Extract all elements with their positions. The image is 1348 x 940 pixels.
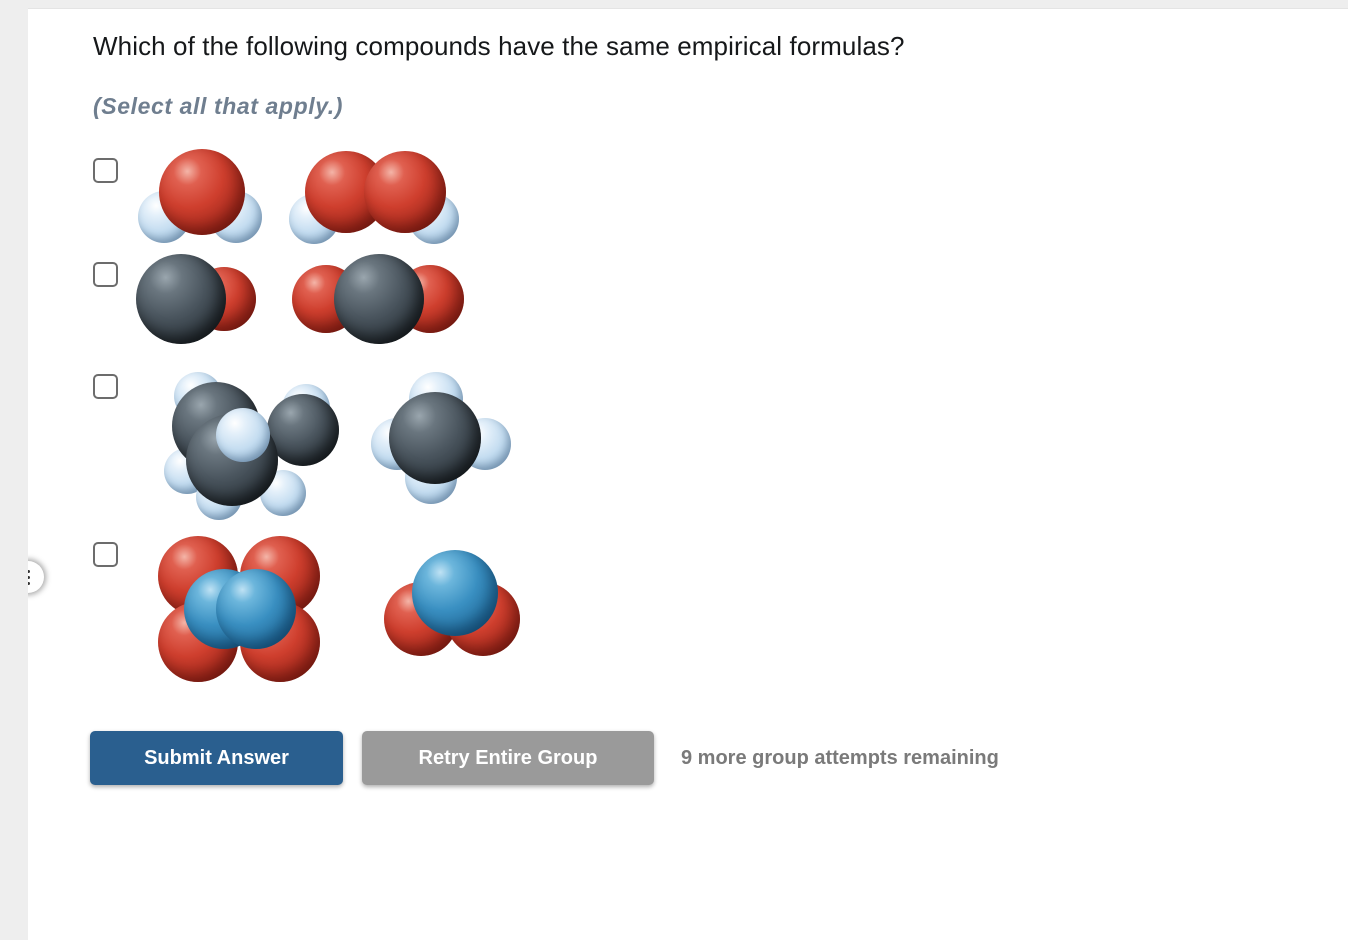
page-root: Which of the following compounds have th… <box>0 0 1348 940</box>
atom-nitrogen <box>412 550 498 636</box>
atom-carbon <box>389 392 481 484</box>
option-row-3 <box>93 360 521 520</box>
retry-entire-group-button[interactable]: Retry Entire Group <box>362 731 654 785</box>
question-content-panel: Which of the following compounds have th… <box>28 8 1348 940</box>
molecule-carbon-monoxide <box>136 248 266 348</box>
option-checkbox-1[interactable] <box>93 158 118 183</box>
submit-answer-button[interactable]: Submit Answer <box>90 731 343 785</box>
molecule-methane <box>371 372 521 510</box>
drag-dots-icon <box>28 570 30 585</box>
atom-oxygen <box>159 149 245 235</box>
molecule-carbon-dioxide <box>292 248 482 348</box>
atom-hydrogen <box>216 408 270 462</box>
attempts-remaining-text: 9 more group attempts remaining <box>681 747 999 770</box>
atom-carbon <box>334 254 424 344</box>
molecule-pair-3 <box>136 360 521 520</box>
panel-splitter-handle[interactable] <box>28 561 44 593</box>
option-row-2 <box>93 248 481 358</box>
molecule-pair-2 <box>136 248 481 358</box>
molecule-pair-4 <box>136 528 536 693</box>
option-row-4 <box>93 528 536 693</box>
atom-nitrogen <box>216 569 296 649</box>
option-checkbox-4[interactable] <box>93 542 118 567</box>
molecule-dinitrogen-tetroxide <box>158 536 328 684</box>
option-checkbox-3[interactable] <box>93 374 118 399</box>
question-stem: Which of the following compounds have th… <box>93 31 905 62</box>
molecule-pair-1 <box>136 144 466 254</box>
molecule-alkane-cluster <box>164 370 344 518</box>
atom-carbon <box>136 254 226 344</box>
question-subtext: (Select all that apply.) <box>93 93 343 120</box>
action-bar: Submit Answer Retry Entire Group 9 more … <box>90 731 999 785</box>
option-checkbox-2[interactable] <box>93 262 118 287</box>
option-row-1 <box>93 144 466 254</box>
molecule-hydrogen-peroxide <box>289 144 464 249</box>
atom-oxygen <box>364 151 446 233</box>
molecule-water <box>136 144 268 249</box>
molecule-nitrogen-dioxide <box>384 550 529 668</box>
